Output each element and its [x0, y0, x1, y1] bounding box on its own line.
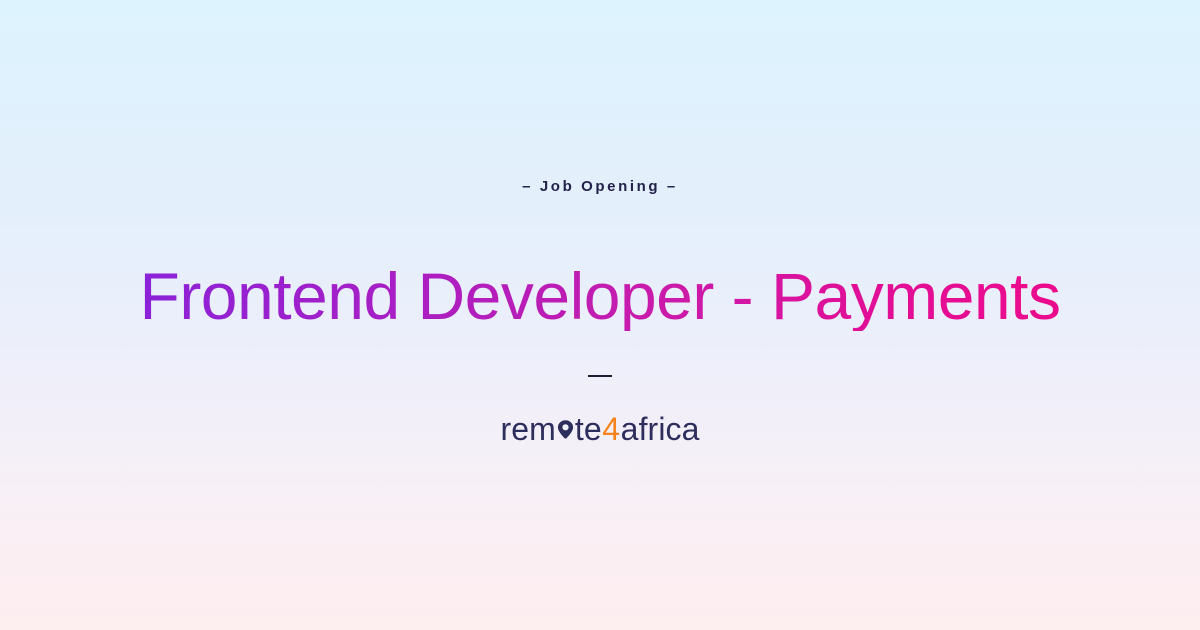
- brand-logo: rem te 4 africa: [500, 413, 699, 445]
- map-pin-icon: [556, 417, 575, 441]
- card-content: – Job Opening – Frontend Developer - Pay…: [0, 179, 1200, 446]
- job-opening-share-card: – Job Opening – Frontend Developer - Pay…: [0, 0, 1200, 630]
- eyebrow-label: – Job Opening –: [522, 179, 678, 194]
- logo-text-te: te: [575, 413, 602, 445]
- logo-text-rem: rem: [500, 413, 555, 445]
- logo-four: 4: [602, 413, 621, 445]
- job-title: Frontend Developer - Payments: [140, 262, 1061, 332]
- divider: [588, 375, 612, 377]
- logo-text-africa: africa: [621, 413, 700, 445]
